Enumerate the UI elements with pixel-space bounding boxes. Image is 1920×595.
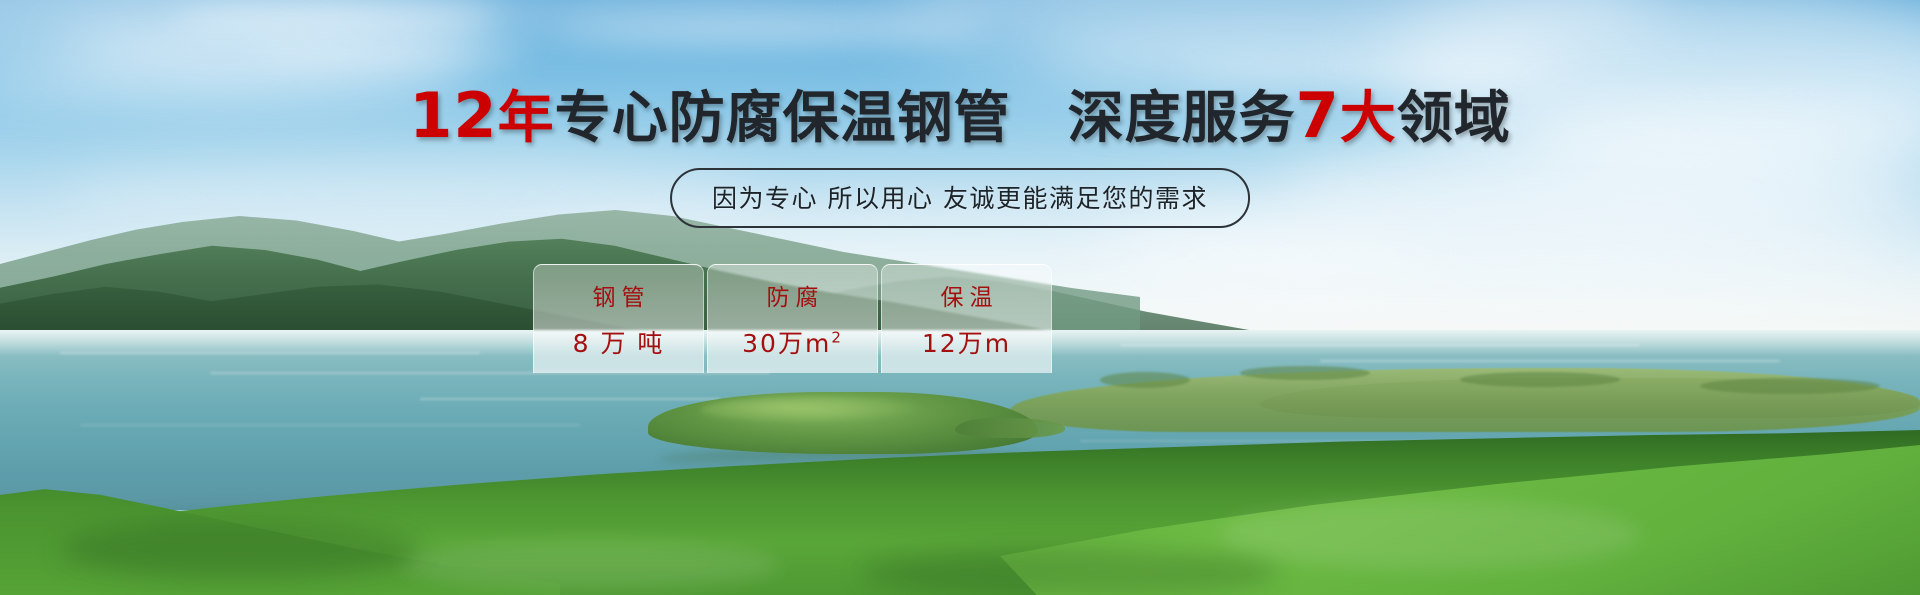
headline: 12年专心防腐保温钢管 深度服务7大领域 (0, 86, 1920, 149)
stat-card-title: 防腐 (761, 278, 825, 312)
headline-years-unit: 年 (498, 86, 555, 151)
subtitle-pill: 因为专心 所以用心 友诚更能满足您的需求 (670, 168, 1250, 228)
headline-fields-number: 7 (1296, 79, 1340, 152)
hero-banner: 12年专心防腐保温钢管 深度服务7大领域 因为专心 所以用心 友诚更能满足您的需… (0, 0, 1920, 595)
stat-card-title: 保温 (935, 278, 999, 312)
island-highlight (700, 396, 930, 424)
stat-card-value: 12万m (922, 324, 1011, 360)
stat-value-text: 12万m (922, 329, 1011, 358)
headline-years-number: 12 (409, 79, 497, 152)
stat-card-anticorrosion[interactable]: 防腐 30万m2 (707, 264, 878, 373)
stat-card-steel-pipe[interactable]: 钢管 8 万 吨 (533, 264, 704, 373)
headline-spacer (1011, 86, 1068, 151)
stat-value-superscript: 2 (831, 329, 843, 347)
headline-main-text: 专心防腐保温钢管 (555, 86, 1011, 151)
island-tail (955, 418, 1065, 438)
stat-card-value: 8 万 吨 (573, 324, 665, 360)
stat-value-text: 30万m (742, 329, 831, 358)
headline-fields-unit: 大 (1340, 86, 1397, 151)
stat-cards: 钢管 8 万 吨 防腐 30万m2 保温 12万m (533, 264, 1052, 373)
stat-card-insulation[interactable]: 保温 12万m (881, 264, 1052, 373)
stat-value-text: 8 万 吨 (573, 329, 665, 358)
headline-service-text: 深度服务 (1068, 86, 1296, 151)
headline-fields-label: 领域 (1397, 86, 1511, 151)
stat-card-title: 钢管 (587, 278, 651, 312)
stat-card-value: 30万m2 (742, 324, 843, 360)
